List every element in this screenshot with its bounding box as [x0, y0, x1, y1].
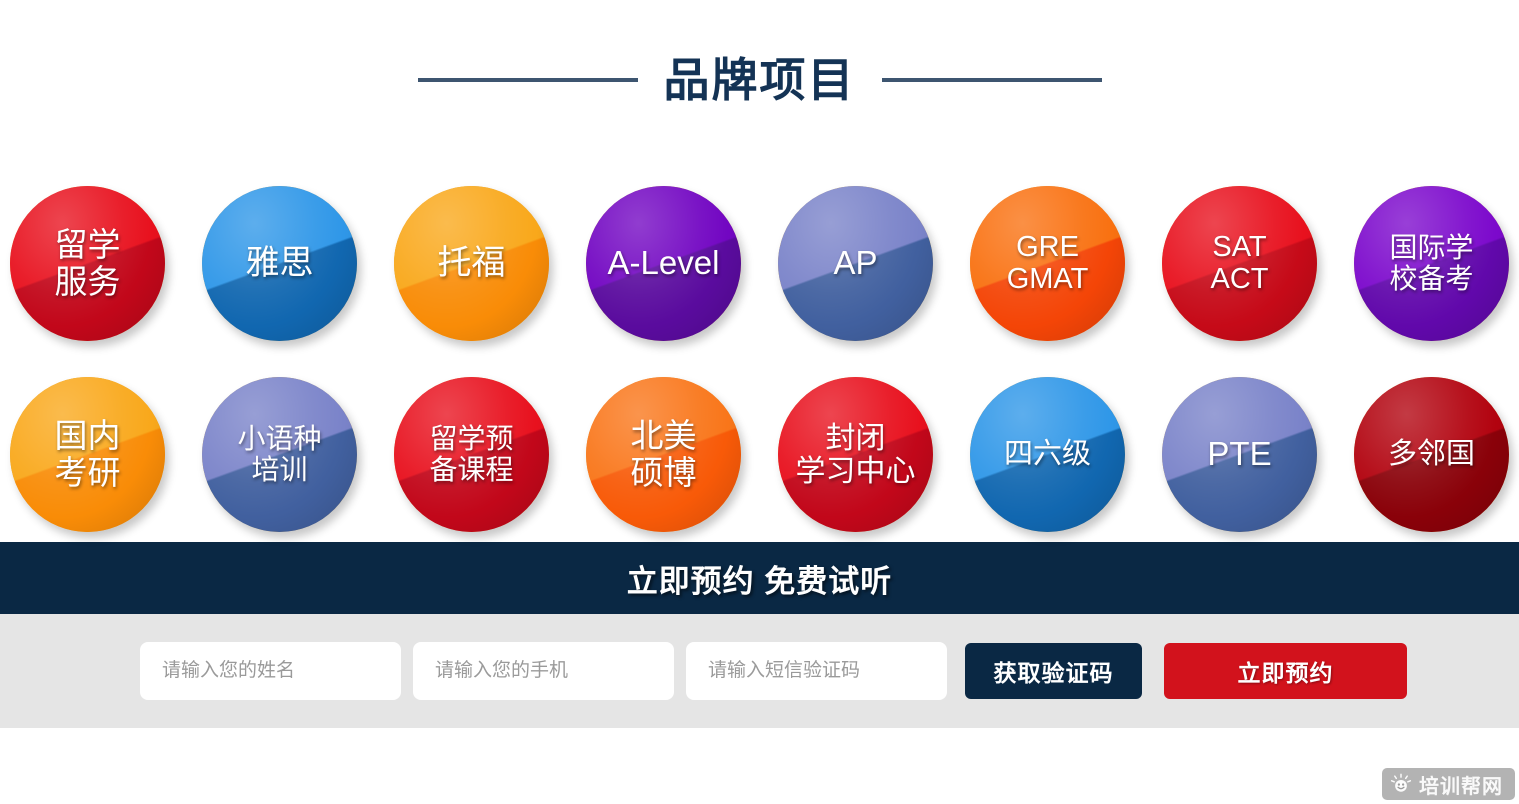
badge-circle-si-liu-ji[interactable]: 四六级	[970, 377, 1125, 532]
badge-label-yasi: 雅思	[246, 245, 314, 282]
program-row-2: 国内 考研小语种 培训留学预 备课程北美 硕博封闭 学习中心四六级PTE多邻国	[0, 377, 1519, 568]
badge-label-pte: PTE	[1207, 436, 1271, 472]
program-badge-yasi[interactable]: 雅思	[202, 186, 357, 341]
badge-label-duolingguo: 多邻国	[1388, 439, 1475, 471]
badge-circle-liuxue-fuwu[interactable]: 留学 服务	[10, 186, 165, 341]
program-badge-duolingguo[interactable]: 多邻国	[1354, 377, 1509, 532]
sms-code-input[interactable]	[686, 642, 947, 700]
header-rule-left	[418, 78, 638, 82]
page-title: 品牌项目	[664, 57, 856, 103]
badge-label-beimei-shuobo: 北美 硕博	[631, 418, 697, 491]
program-badge-beimei-shuobo[interactable]: 北美 硕博	[586, 377, 741, 532]
badge-circle-a-level[interactable]: A-Level	[586, 186, 741, 341]
program-badge-guoji-xuexiao[interactable]: 国际学 校备考	[1354, 186, 1509, 341]
program-badge-fengbi-zhongxin[interactable]: 封闭 学习中心	[778, 377, 933, 532]
badge-label-xiaoyuzhong: 小语种 培训	[237, 424, 321, 486]
badge-label-sat-act: SAT ACT	[1211, 232, 1269, 296]
badge-circle-guoji-xuexiao[interactable]: 国际学 校备考	[1354, 186, 1509, 341]
badge-label-si-liu-ji: 四六级	[1004, 439, 1091, 471]
program-badge-xiaoyuzhong[interactable]: 小语种 培训	[202, 377, 357, 532]
badge-label-gre-gmat: GRE GMAT	[1007, 232, 1089, 296]
badge-circle-duolingguo[interactable]: 多邻国	[1354, 377, 1509, 532]
program-badge-a-level[interactable]: A-Level	[586, 186, 741, 341]
badge-circle-gre-gmat[interactable]: GRE GMAT	[970, 186, 1125, 341]
section-header: 品牌项目	[0, 0, 1519, 160]
badge-label-a-level: A-Level	[608, 245, 720, 281]
badge-label-ap: AP	[833, 245, 877, 281]
badge-circle-pte[interactable]: PTE	[1162, 377, 1317, 532]
badge-circle-sat-act[interactable]: SAT ACT	[1162, 186, 1317, 341]
badge-circle-ap[interactable]: AP	[778, 186, 933, 341]
header-rule-right	[882, 78, 1102, 82]
program-badge-liuxue-fuwu[interactable]: 留学 服务	[10, 186, 165, 341]
booking-form: 获取验证码 立即预约	[0, 614, 1519, 728]
get-verification-code-button[interactable]: 获取验证码	[965, 643, 1142, 699]
submit-booking-button[interactable]: 立即预约	[1164, 643, 1407, 699]
badge-label-fengbi-zhongxin: 封闭 学习中心	[796, 422, 916, 488]
program-row-1: 留学 服务雅思托福A-LevelAPGRE GMATSAT ACT国际学 校备考	[0, 186, 1519, 377]
badge-label-liuxue-fuwu: 留学 服务	[55, 227, 121, 300]
program-badge-pte[interactable]: PTE	[1162, 377, 1317, 532]
site-watermark: 培训帮网	[1382, 768, 1515, 800]
program-badge-grid: 留学 服务雅思托福A-LevelAPGRE GMATSAT ACT国际学 校备考…	[0, 160, 1519, 542]
badge-label-guoji-xuexiao: 国际学 校备考	[1389, 233, 1473, 295]
badge-label-guonei-kaoyan: 国内 考研	[55, 418, 121, 491]
badge-label-liuxue-yubei: 留学预 备课程	[429, 424, 513, 486]
badge-circle-fengbi-zhongxin[interactable]: 封闭 学习中心	[778, 377, 933, 532]
badge-circle-xiaoyuzhong[interactable]: 小语种 培训	[202, 377, 357, 532]
badge-circle-tuofu[interactable]: 托福	[394, 186, 549, 341]
badge-circle-liuxue-yubei[interactable]: 留学预 备课程	[394, 377, 549, 532]
badge-label-tuofu: 托福	[438, 245, 506, 282]
program-badge-tuofu[interactable]: 托福	[394, 186, 549, 341]
program-badge-si-liu-ji[interactable]: 四六级	[970, 377, 1125, 532]
program-badge-liuxue-yubei[interactable]: 留学预 备课程	[394, 377, 549, 532]
badge-circle-beimei-shuobo[interactable]: 北美 硕博	[586, 377, 741, 532]
sun-face-icon	[1390, 773, 1412, 795]
program-badge-ap[interactable]: AP	[778, 186, 933, 341]
phone-input[interactable]	[413, 642, 674, 700]
name-input[interactable]	[140, 642, 401, 700]
badge-circle-guonei-kaoyan[interactable]: 国内 考研	[10, 377, 165, 532]
program-badge-sat-act[interactable]: SAT ACT	[1162, 186, 1317, 341]
badge-circle-yasi[interactable]: 雅思	[202, 186, 357, 341]
watermark-label: 培训帮网	[1419, 770, 1503, 799]
program-badge-guonei-kaoyan[interactable]: 国内 考研	[10, 377, 165, 532]
program-badge-gre-gmat[interactable]: GRE GMAT	[970, 186, 1125, 341]
